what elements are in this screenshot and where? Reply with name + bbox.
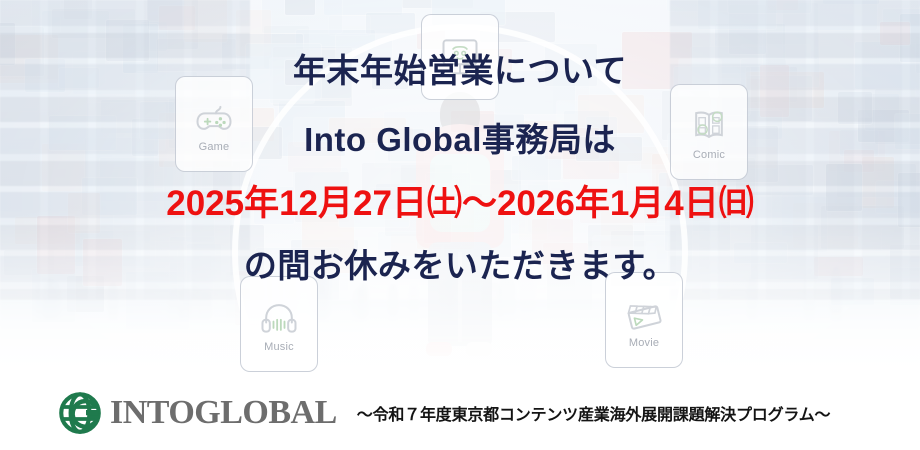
category-card-movie-label: Movie [629,337,659,349]
headline-block: 年末年始営業について Into Global事務局は 2025年12月27日㈯〜… [0,54,920,282]
category-card-music-label: Music [264,341,294,353]
wordmark-text: INTOGLOBAL [110,396,337,430]
program-tagline: 〜令和７年度東京都コンテンツ産業海外展開課題解決プログラム〜 [357,401,831,425]
headline-line-4: の間お休みをいただきます。 [0,249,920,282]
globe-icon [56,389,104,437]
closure-date-range: 2025年12月27日㈯〜2026年1月4日㈰ [0,186,920,221]
footer-bar: INTOGLOBAL 〜令和７年度東京都コンテンツ産業海外展開課題解決プログラム… [0,376,920,450]
headphones-icon [257,295,301,339]
headline-line-2: Into Global事務局は [0,123,920,156]
category-card-movie: Movie [605,272,683,368]
category-card-music: Music [240,276,318,372]
headline-line-1: 年末年始営業について [0,54,920,87]
clapperboard-icon [622,291,666,335]
into-global-logo[interactable]: INTOGLOBAL [56,389,337,437]
announcement-banner: Game Comic Music [0,0,920,450]
